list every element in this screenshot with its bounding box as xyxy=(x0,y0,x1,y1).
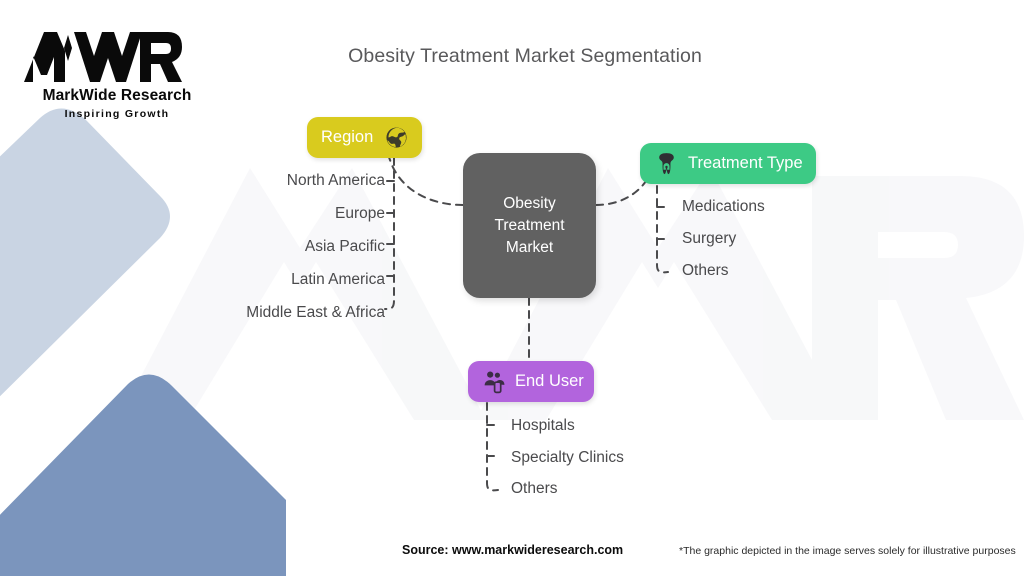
list-item[interactable]: Europe xyxy=(140,206,385,222)
list-item[interactable]: Middle East & Africa xyxy=(140,305,385,321)
list-item[interactable]: Surgery xyxy=(682,231,765,247)
branch-badge-end-user[interactable]: End User xyxy=(468,361,594,402)
list-item[interactable]: Specialty Clinics xyxy=(511,450,624,466)
disclaimer-note: *The graphic depicted in the image serve… xyxy=(679,545,1016,557)
branch-badge-region[interactable]: Region xyxy=(307,117,422,158)
source-attribution: Source: www.markwideresearch.com xyxy=(402,543,623,557)
branch-items-end-user: Hospitals Specialty Clinics Others xyxy=(511,418,624,513)
list-item[interactable]: Hospitals xyxy=(511,418,624,434)
list-item[interactable]: Others xyxy=(682,263,765,279)
center-node-obesity-treatment-market[interactable]: Obesity Treatment Market xyxy=(463,153,596,298)
connector-enduser-spine xyxy=(487,403,498,490)
users-icon xyxy=(482,369,508,395)
connector-treatment-spine xyxy=(657,186,668,272)
branch-items-treatment-type: Medications Surgery Others xyxy=(682,199,765,295)
branch-items-region: North America Europe Asia Pacific Latin … xyxy=(140,173,385,338)
branch-badge-treatment-type-label: Treatment Type xyxy=(688,154,803,173)
center-node-label: Obesity Treatment Market xyxy=(494,193,564,259)
tooth-icon xyxy=(654,151,679,176)
list-item[interactable]: Asia Pacific xyxy=(140,239,385,255)
infographic-canvas: MarkWide Research Inspiring Growth Obesi… xyxy=(0,0,1024,576)
globe-icon xyxy=(385,126,408,149)
list-item[interactable]: Others xyxy=(511,481,624,497)
branch-badge-treatment-type[interactable]: Treatment Type xyxy=(640,143,816,184)
list-item[interactable]: Medications xyxy=(682,199,765,215)
branch-badge-region-label: Region xyxy=(321,128,373,147)
branch-badge-end-user-label: End User xyxy=(515,372,584,391)
list-item[interactable]: North America xyxy=(140,173,385,189)
list-item[interactable]: Latin America xyxy=(140,272,385,288)
